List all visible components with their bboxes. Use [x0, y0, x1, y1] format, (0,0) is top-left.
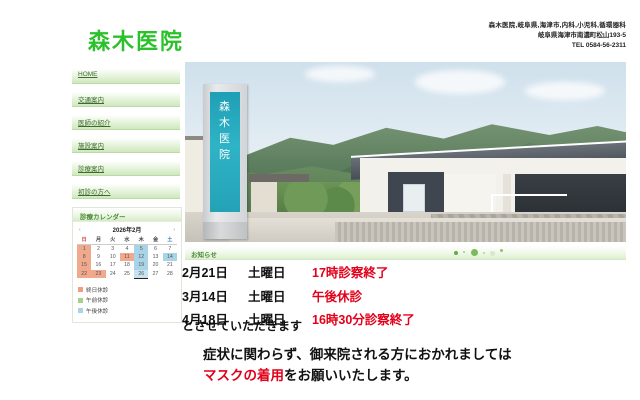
dot-icon	[483, 252, 485, 254]
header-keywords: 森木医院,岐阜県,海津市,内科,小児科,循環器科	[489, 21, 626, 31]
mask-message-emphasis: マスクの着用	[203, 368, 284, 383]
mask-message-line1: 症状に関わらず、御来院される方におかれましては	[203, 345, 633, 366]
calendar-panel-heading: 診療カレンダー	[73, 208, 181, 222]
calendar-legend: 終日休診 午前休診 午後休診	[73, 283, 181, 323]
dot-icon	[454, 251, 458, 255]
calendar-weekday-wed: 水	[120, 235, 134, 245]
header-telephone: TEL 0584-56-2311	[489, 41, 626, 51]
page-root: 森木医院 森木医院,岐阜県,海津市,内科,小児科,循環器科 岐阜県海津市南濃町松…	[0, 0, 640, 400]
calendar-week-row: 22232425262728	[77, 270, 177, 279]
calendar-navbar: ‹ 2026年2月 ›	[77, 225, 177, 234]
calendar-day-cell[interactable]: 26	[134, 270, 148, 279]
notice-closing-text: とさせていただきます	[182, 317, 302, 334]
calendar-day-cell[interactable]: 24	[106, 270, 120, 279]
notice-row: 2月21日 土曜日 17時診察終了	[182, 262, 626, 281]
notice-note: 17時診察終了	[312, 262, 388, 281]
calendar-day-cell[interactable]: 20	[148, 261, 162, 269]
calendar-day-cell[interactable]: 4	[120, 245, 134, 254]
legend-row-afternoon-closed: 午後休診	[78, 307, 177, 315]
sidebar-nav-list: HOME 交通案内 医師の紹介 施設案内 診療案内 初診の方へ	[72, 68, 180, 199]
calendar-day-cell[interactable]: 15	[77, 261, 91, 269]
legend-swatch-morning	[78, 298, 83, 303]
legend-swatch-afternoon	[78, 308, 83, 313]
notice-weekday: 土曜日	[248, 286, 312, 305]
calendar-day-cell[interactable]: 3	[106, 245, 120, 254]
calendar-day-cell[interactable]: 18	[120, 261, 134, 269]
calendar-day-cell[interactable]: 12	[134, 253, 148, 261]
calendar-weekday-mon: 月	[91, 235, 105, 245]
sign-char: 森	[210, 100, 240, 116]
photo-sign-pylon: 森 木 医 院	[203, 84, 247, 239]
sign-char: 木	[210, 116, 240, 132]
notice-note: 16時30分診察終了	[312, 309, 415, 328]
notice-weekday: 土曜日	[248, 262, 312, 281]
calendar-day-cell[interactable]: 10	[106, 253, 120, 261]
sidebar-item-home[interactable]: HOME	[72, 68, 180, 84]
calendar-month-label: 2026年2月	[113, 225, 142, 234]
sidebar-item-label: 交通案内	[78, 94, 104, 104]
legend-label: 午前休診	[86, 296, 108, 304]
calendar-day-cell[interactable]: 11	[120, 253, 134, 261]
sidebar-item-label: 初診の方へ	[78, 186, 111, 196]
calendar-day-cell[interactable]: 1	[77, 245, 91, 254]
photo-cloud	[305, 66, 375, 82]
calendar-weekday-thu: 木	[134, 235, 148, 245]
header-address: 岐阜県海津市南濃町松山193-5	[489, 31, 626, 41]
calendar-day-cell[interactable]: 25	[120, 270, 134, 279]
calendar-weekday-sat: 土	[163, 235, 177, 245]
calendar-prev-month-icon[interactable]: ‹	[79, 227, 81, 233]
calendar-week-row: 891011121314	[77, 253, 177, 261]
clinic-exterior-photo: 森 木 医 院	[185, 62, 626, 242]
sidebar-item-first-visit[interactable]: 初診の方へ	[72, 183, 180, 199]
calendar-weekday-row: 日 月 火 水 木 金 土	[77, 235, 177, 245]
calendar-day-cell[interactable]: 21	[163, 261, 177, 269]
photo-sign-face: 森 木 医 院	[210, 92, 240, 212]
legend-label: 終日休診	[86, 286, 108, 294]
site-title: 森木医院	[88, 24, 184, 56]
decorative-dots	[450, 246, 520, 259]
dot-icon	[463, 251, 465, 253]
sidebar-item-medical[interactable]: 診療案内	[72, 160, 180, 176]
sidebar-item-access[interactable]: 交通案内	[72, 91, 180, 107]
legend-label: 午後休診	[86, 307, 108, 315]
legend-row-full-day-closed: 終日休診	[78, 286, 177, 294]
calendar-week-row: 15161718192021	[77, 261, 177, 269]
sidebar-item-doctor[interactable]: 医師の紹介	[72, 114, 180, 130]
notice-date: 2月21日	[182, 262, 248, 281]
calendar-grid: 日 月 火 水 木 金 土 12345678910111213141516171…	[77, 235, 177, 279]
calendar-day-cell[interactable]: 22	[77, 270, 91, 279]
calendar-day-cell[interactable]: 8	[77, 253, 91, 261]
calendar-day-rows: 1234567891011121314151617181920212223242…	[77, 245, 177, 279]
legend-swatch-full-day	[78, 287, 83, 292]
calendar-weekday-fri: 金	[148, 235, 162, 245]
dot-icon	[500, 249, 503, 252]
photo-cloud	[415, 70, 505, 94]
calendar-body: ‹ 2026年2月 › 日 月 火 水 木 金 土 123456789101	[73, 222, 181, 283]
calendar-day-cell[interactable]: 17	[106, 261, 120, 269]
header-contact-block: 森木医院,岐阜県,海津市,内科,小児科,循環器科 岐阜県海津市南濃町松山193-…	[489, 21, 626, 50]
calendar-day-cell[interactable]: 16	[91, 261, 105, 269]
sidebar-item-facility[interactable]: 施設案内	[72, 137, 180, 153]
calendar-day-cell[interactable]: 14	[163, 253, 177, 261]
calendar-panel: 診療カレンダー ‹ 2026年2月 › 日 月 火 水 木 金 土	[72, 207, 182, 323]
calendar-head: 日 月 火 水 木 金 土	[77, 235, 177, 245]
notice-note: 午後休診	[312, 286, 362, 305]
calendar-day-cell[interactable]: 7	[163, 245, 177, 254]
photo-sign-text: 森 木 医 院	[210, 100, 240, 164]
calendar-next-month-icon[interactable]: ›	[173, 227, 175, 233]
calendar-day-cell[interactable]: 27	[148, 270, 162, 279]
photo-sign-base	[203, 222, 247, 239]
news-section-header: お知らせ	[185, 246, 626, 260]
sign-char: 院	[210, 148, 240, 164]
notice-date: 3月14日	[182, 286, 248, 305]
sign-char: 医	[210, 132, 240, 148]
mask-message-rest: をお願いいたします。	[284, 368, 418, 383]
calendar-day-cell[interactable]: 19	[134, 261, 148, 269]
calendar-day-cell[interactable]: 5	[134, 245, 148, 254]
calendar-week-row: 1234567	[77, 245, 177, 254]
sidebar: HOME 交通案内 医師の紹介 施設案内 診療案内 初診の方へ	[72, 68, 180, 206]
sidebar-item-label: HOME	[78, 71, 98, 78]
calendar-day-cell[interactable]: 13	[148, 253, 162, 261]
dot-icon	[490, 251, 495, 256]
calendar-weekday-tue: 火	[106, 235, 120, 245]
news-section-title: お知らせ	[191, 249, 217, 259]
mask-request-message: 症状に関わらず、御来院される方におかれましては マスクの着用をお願いいたします。	[203, 345, 633, 387]
sidebar-item-label: 医師の紹介	[78, 117, 111, 127]
photo-cloud	[525, 82, 605, 100]
mask-message-line2: マスクの着用をお願いいたします。	[203, 366, 633, 387]
calendar-day-cell[interactable]: 9	[91, 253, 105, 261]
calendar-panel-title: 診療カレンダー	[80, 211, 126, 221]
calendar-day-cell[interactable]: 28	[163, 270, 177, 279]
dot-icon	[471, 249, 478, 256]
calendar-day-cell[interactable]: 6	[148, 245, 162, 254]
calendar-weekday-sun: 日	[77, 235, 91, 245]
calendar-day-cell[interactable]: 2	[91, 245, 105, 254]
photo-wall-signboard	[403, 184, 425, 212]
site-header: 森木医院 森木医院,岐阜県,海津市,内科,小児科,循環器科 岐阜県海津市南濃町松…	[0, 0, 640, 62]
sidebar-item-label: 施設案内	[78, 140, 104, 150]
notice-row: 3月14日 土曜日 午後休診	[182, 286, 626, 305]
legend-row-morning-closed: 午前休診	[78, 296, 177, 304]
calendar-day-cell[interactable]: 23	[91, 270, 105, 279]
sidebar-item-label: 診療案内	[78, 163, 104, 173]
photo-fence-panels	[335, 222, 626, 242]
